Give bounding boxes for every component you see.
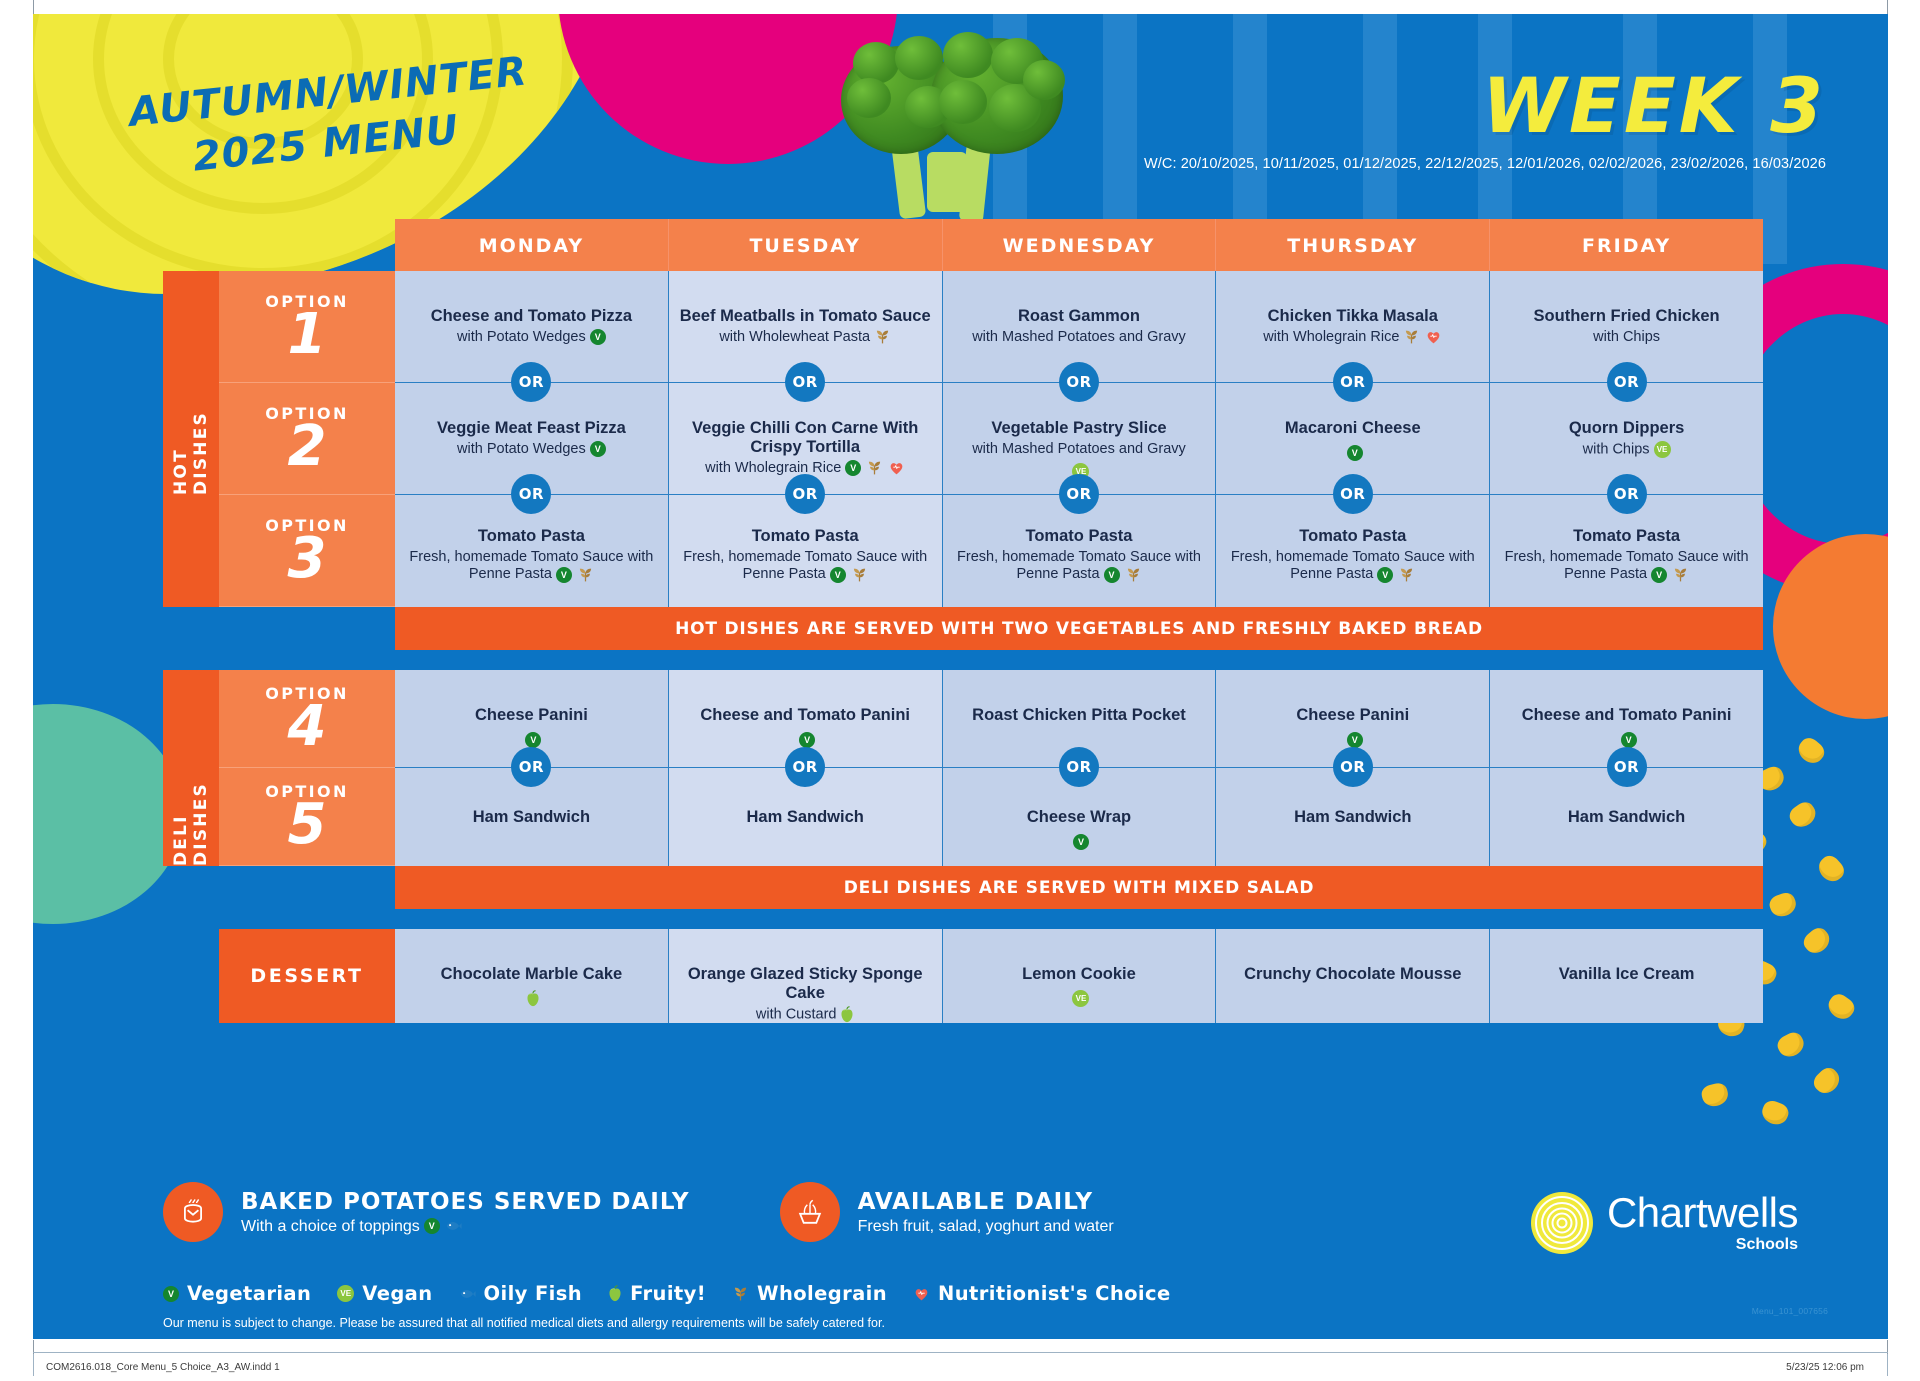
dish-description: with Wholegrain Rice (1263, 329, 1442, 346)
dessert-label: DESSERT (219, 929, 395, 1023)
or-badge: OR (785, 474, 825, 514)
dish-name: Ham Sandwich (473, 808, 590, 827)
day-header-monday: MONDAY (395, 219, 669, 271)
diet-icons: V (830, 567, 868, 583)
diet-icons: V (1347, 445, 1363, 461)
print-footer: COM2616.018_Core Menu_5 Choice_A3_AW.ind… (0, 1352, 1920, 1381)
menu-cell: Chicken Tikka Masalawith Wholegrain Rice… (1216, 271, 1490, 383)
broccoli-image (823, 32, 1093, 227)
dish-description-text: with Custard (756, 1006, 837, 1022)
option-number: 2 (288, 421, 327, 473)
vegan-icon: VE (1072, 990, 1089, 1007)
dish-name: Cheese and Tomato Panini (700, 706, 910, 725)
menu-cell-content: Beef Meatballs in Tomato Saucewith Whole… (680, 307, 931, 346)
info-title: AVAILABLE DAILY (858, 1189, 1114, 1215)
section-label-deli-dishes (163, 670, 219, 768)
menu-cell: Cheese and Tomato PaniniVOR (1490, 670, 1763, 768)
dish-description-text: with Chips (1583, 441, 1650, 457)
nutritionists-choice-icon (1425, 329, 1442, 345)
vegetarian-icon: V (1073, 834, 1089, 850)
dish-description-text: with Wholegrain Rice (705, 460, 841, 476)
dessert-label-text: DESSERT (250, 965, 363, 987)
footer-timestamp: 5/23/25 12:06 pm (1786, 1362, 1864, 1373)
dish-icons-row: VE (1022, 990, 1136, 1008)
wholegrain-icon (1672, 567, 1689, 583)
or-badge: OR (511, 474, 551, 514)
dish-description: with Mashed Potatoes and Gravy (972, 329, 1186, 346)
dish-name: Chocolate Marble Cake (441, 965, 623, 984)
diet-icons: V (1347, 732, 1363, 748)
baked-potato-icon (163, 1182, 223, 1242)
dish-name: Ham Sandwich (1568, 808, 1685, 827)
dish-description-text: Fresh, homemade Tomato Sauce with Penne … (957, 549, 1201, 582)
dish-description: Fresh, homemade Tomato Sauce with Penne … (1226, 549, 1479, 584)
dish-icons-row: V (1285, 444, 1421, 462)
menu-cell-content: Ham Sandwich (473, 808, 590, 827)
info-subtitle-text: Fresh fruit, salad, yoghurt and water (858, 1218, 1114, 1235)
or-badge: OR (1333, 474, 1373, 514)
diet-icons (874, 329, 891, 345)
dish-description: with Custard (679, 1006, 932, 1024)
menu-grid-body: OPTION1Cheese and Tomato Pizzawith Potat… (163, 271, 1763, 1023)
chartwells-name: Chartwells (1607, 1192, 1798, 1234)
info-item-available-daily: AVAILABLE DAILYFresh fruit, salad, yoghu… (780, 1182, 1114, 1242)
dish-name: Veggie Meat Feast Pizza (437, 419, 626, 438)
dish-name: Beef Meatballs in Tomato Sauce (680, 307, 931, 326)
dish-description: Fresh, homemade Tomato Sauce with Penne … (953, 549, 1206, 584)
menu-cell-content: Veggie Meat Feast Pizzawith Potato Wedge… (437, 419, 626, 458)
dish-icons-row (441, 990, 623, 1008)
nutritionists-choice-icon (888, 460, 905, 476)
menu-cell-content: Tomato PastaFresh, homemade Tomato Sauce… (1226, 527, 1479, 584)
menu-cell-content: Roast Chicken Pitta Pocket (972, 706, 1186, 725)
fruity-icon (608, 1285, 622, 1302)
menu-row-option-5: DELI DISHESOPTION5Ham SandwichHam Sandwi… (163, 768, 1763, 866)
footer-filename: COM2616.018_Core Menu_5 Choice_A3_AW.ind… (46, 1362, 280, 1373)
oily-fish-icon (459, 1287, 476, 1301)
deli-dishes-banner: DELI DISHES ARE SERVED WITH MIXED SALAD (395, 866, 1763, 909)
day-header-thursday: THURSDAY (1216, 219, 1490, 271)
menu-cell: Cheese and Tomato Pizzawith Potato Wedge… (395, 271, 669, 383)
menu-cell-content: Vegetable Pastry Slicewith Mashed Potato… (972, 419, 1186, 480)
vegetarian-icon: V (525, 732, 541, 748)
diet-icons: V (525, 732, 541, 748)
dish-name: Cheese Panini (475, 706, 588, 725)
chartwells-logo: Chartwells Schools (1531, 1192, 1798, 1254)
option-number: 3 (288, 533, 327, 585)
option-label-3: OPTION3 (219, 495, 395, 607)
diet-icons: V (556, 567, 594, 583)
dish-name: Ham Sandwich (1294, 808, 1411, 827)
option-label-2: OPTION2 (219, 383, 395, 495)
option-label-5: OPTION5 (219, 768, 395, 866)
footer-divider (33, 1352, 1888, 1353)
option-number: 5 (288, 799, 327, 851)
vegan-icon: VE (337, 1285, 354, 1302)
menu-cell-content: Ham Sandwich (1294, 808, 1411, 827)
info-text: BAKED POTATOES SERVED DAILYWith a choice… (241, 1189, 690, 1236)
menu-cell-content: Crunchy Chocolate Mousse (1244, 965, 1461, 984)
diet-icons (1403, 329, 1442, 345)
menu-cell-content: Cheese PaniniV (1296, 706, 1409, 749)
dish-description-text: with Chips (1593, 329, 1660, 345)
menu-code: Menu_101_007656 (1752, 1306, 1828, 1316)
info-subtitle: Fresh fruit, salad, yoghurt and water (858, 1218, 1114, 1236)
week-commencing-dates: W/C: 20/10/2025, 10/11/2025, 01/12/2025,… (1144, 156, 1826, 172)
dish-name: Quorn Dippers (1569, 419, 1685, 438)
wholegrain-icon (866, 460, 883, 476)
wholegrain-icon (577, 567, 594, 583)
dish-description: with Potato WedgesV (437, 441, 626, 458)
menu-cell-content: Cheese and Tomato PaniniV (1522, 706, 1732, 749)
menu-cell-content: Orange Glazed Sticky Sponge Cakewith Cus… (679, 965, 932, 1024)
legend-item-fruity: Fruity! (608, 1282, 706, 1305)
dish-name: Southern Fried Chicken (1534, 307, 1720, 326)
vegetarian-icon: V (556, 567, 572, 583)
menu-cell-content: Cheese WrapV (1027, 808, 1131, 851)
dish-name: Roast Chicken Pitta Pocket (972, 706, 1186, 725)
vegetarian-icon: V (830, 567, 846, 583)
option-number: 1 (288, 309, 327, 361)
menu-row-option-dessert: DESSERTChocolate Marble CakeOrange Glaze… (163, 929, 1763, 1023)
dish-name: Veggie Chilli Con Carne With Crispy Tort… (679, 419, 932, 457)
menu-cell-content: Roast Gammonwith Mashed Potatoes and Gra… (972, 307, 1186, 346)
menu-cell-content: Veggie Chilli Con Carne With Crispy Tort… (679, 419, 932, 477)
dish-description-text: with Mashed Potatoes and Gravy (972, 329, 1186, 345)
or-badge: OR (785, 747, 825, 787)
orange-circle-decoration (1773, 534, 1888, 719)
wholegrain-icon (1403, 329, 1420, 345)
info-subtitle: With a choice of toppingsV (241, 1218, 690, 1236)
diet-icons: V (1377, 567, 1415, 583)
menu-cell-content: Cheese and Tomato Pizzawith Potato Wedge… (431, 307, 632, 346)
day-header-tuesday: TUESDAY (669, 219, 943, 271)
menu-cell-content: Ham Sandwich (1568, 808, 1685, 827)
dish-name: Tomato Pasta (953, 527, 1206, 546)
dish-name: Ham Sandwich (747, 808, 864, 827)
or-badge: OR (1607, 474, 1647, 514)
dish-name: Tomato Pasta (679, 527, 932, 546)
menu-cell-content: Ham Sandwich (747, 808, 864, 827)
section-gap (163, 909, 1763, 929)
vegan-icon: VE (1654, 441, 1671, 458)
menu-cell-content: Vanilla Ice Cream (1559, 965, 1695, 984)
dish-description: with Wholewheat Pasta (680, 329, 931, 346)
menu-cell-content: Chicken Tikka Masalawith Wholegrain Rice (1263, 307, 1442, 346)
vegetarian-icon: V (1621, 732, 1637, 748)
day-header-wednesday: WEDNESDAY (943, 219, 1217, 271)
diet-icons: V (799, 732, 815, 748)
vegetarian-icon: V (590, 329, 606, 345)
vegetarian-icon: V (1347, 445, 1363, 461)
option-number: 4 (288, 701, 327, 753)
menu-cell: Lemon CookieVE (943, 929, 1217, 1023)
fruity-icon (526, 990, 540, 1007)
wholegrain-icon (732, 1286, 749, 1302)
chartwells-sub: Schools (1607, 1236, 1798, 1254)
menu-cell-content: Macaroni CheeseV (1285, 419, 1421, 462)
section-label-text: HOT DISHES (171, 383, 211, 495)
legend-label: Wholegrain (757, 1282, 887, 1305)
menu-row-option-3: OPTION3Tomato PastaFresh, homemade Tomat… (163, 495, 1763, 607)
diet-icons (526, 990, 540, 1007)
footer-tick (1887, 1354, 1888, 1376)
menu-cell: Beef Meatballs in Tomato Saucewith Whole… (669, 271, 943, 383)
diet-icons: VE (1072, 990, 1089, 1007)
menu-row-cells: Cheese and Tomato Pizzawith Potato Wedge… (395, 271, 1763, 383)
diet-icons: V (424, 1218, 462, 1234)
dish-name: Chicken Tikka Masala (1263, 307, 1442, 326)
menu-cell-content: Tomato PastaFresh, homemade Tomato Sauce… (679, 527, 932, 584)
dish-description-text: with Wholegrain Rice (1263, 329, 1399, 345)
wholegrain-icon (851, 567, 868, 583)
dish-name: Cheese and Tomato Pizza (431, 307, 632, 326)
legend-item-wholegrain: Wholegrain (732, 1282, 887, 1305)
diet-icons: VE (1654, 441, 1671, 458)
dish-name: Crunchy Chocolate Mousse (1244, 965, 1461, 984)
disclaimer-text: Our menu is subject to change. Please be… (163, 1316, 885, 1330)
diet-icons: V (590, 329, 606, 345)
oily-fish-icon (445, 1219, 462, 1233)
menu-cell: Southern Fried Chickenwith ChipsOR (1490, 271, 1763, 383)
menu-cell: Cheese PaniniVOR (395, 670, 669, 768)
vegetarian-icon: V (1104, 567, 1120, 583)
diet-icons: V (845, 460, 905, 476)
or-badge: OR (1333, 362, 1373, 402)
dish-description: with Potato WedgesV (431, 329, 632, 346)
dish-name: Vegetable Pastry Slice (972, 419, 1186, 438)
menu-cell-content: Cheese and Tomato PaniniV (700, 706, 910, 749)
info-text: AVAILABLE DAILYFresh fruit, salad, yoghu… (858, 1189, 1114, 1236)
hot-dishes-banner: HOT DISHES ARE SERVED WITH TWO VEGETABLE… (395, 607, 1763, 650)
section-label-hot-dishes: HOT DISHES (163, 383, 219, 495)
diet-icons: V (1621, 732, 1637, 748)
menu-row-cells: Chocolate Marble CakeOrange Glazed Stick… (395, 929, 1763, 1023)
dish-description: Fresh, homemade Tomato Sauce with Penne … (679, 549, 932, 584)
salad-bowl-icon (780, 1182, 840, 1242)
option-label-4: OPTION4 (219, 670, 395, 768)
menu-cell-content: Lemon CookieVE (1022, 965, 1136, 1008)
menu-cell-content: Tomato PastaFresh, homemade Tomato Sauce… (1500, 527, 1753, 584)
vegetarian-icon: V (1651, 567, 1667, 583)
dish-description-text: with Potato Wedges (457, 441, 586, 457)
or-badge: OR (1607, 747, 1647, 787)
chartwells-logo-text: Chartwells Schools (1607, 1192, 1798, 1254)
legend-item-nutritionist-s-choice: Nutritionist's Choice (913, 1282, 1171, 1305)
menu-cell: Roast Gammonwith Mashed Potatoes and Gra… (943, 271, 1217, 383)
wholegrain-icon (1398, 567, 1415, 583)
menu-row-cells: Cheese PaniniVORCheese and Tomato Panini… (395, 670, 1763, 768)
or-badge: OR (511, 747, 551, 787)
nutritionists-choice-icon (913, 1286, 930, 1302)
green-circle-decoration (33, 704, 183, 924)
fruity-icon (840, 1006, 854, 1023)
day-header-friday: FRIDAY (1490, 219, 1763, 271)
legend-label: Vegetarian (187, 1282, 311, 1305)
vegetarian-icon: V (845, 460, 861, 476)
menu-cell-content: Cheese PaniniV (475, 706, 588, 749)
dish-description: with Mashed Potatoes and Gravy (972, 441, 1186, 458)
diet-icons: V (1104, 567, 1142, 583)
info-title: BAKED POTATOES SERVED DAILY (241, 1189, 690, 1215)
dish-name: Cheese Panini (1296, 706, 1409, 725)
days-header-row: MONDAYTUESDAYWEDNESDAYTHURSDAYFRIDAY (395, 219, 1763, 271)
menu-cell-content: Tomato PastaFresh, homemade Tomato Sauce… (405, 527, 658, 584)
vegetarian-icon: V (590, 441, 606, 457)
dish-name: Macaroni Cheese (1285, 419, 1421, 438)
legend-item-vegetarian: VVegetarian (163, 1282, 311, 1305)
diet-icons (840, 1006, 854, 1023)
dish-name: Cheese and Tomato Panini (1522, 706, 1732, 725)
chartwells-logo-mark (1531, 1192, 1593, 1254)
dish-name: Orange Glazed Sticky Sponge Cake (679, 965, 932, 1003)
wholegrain-icon (874, 329, 891, 345)
menu-cell-content: Quorn Dipperswith ChipsVE (1569, 419, 1685, 459)
menu-cell-content: Tomato PastaFresh, homemade Tomato Sauce… (953, 527, 1206, 584)
legend: VVegetarianVEVeganOily FishFruity!Wholeg… (163, 1282, 1171, 1305)
dish-description-text: with Wholewheat Pasta (719, 329, 870, 345)
section-label-text: DELI DISHES (171, 768, 211, 866)
legend-item-vegan: VEVegan (337, 1282, 432, 1305)
menu-cell: Cheese PaniniVOR (1216, 670, 1490, 768)
wholegrain-icon (1125, 567, 1142, 583)
section-label-hot-dishes (163, 271, 219, 383)
dish-description: with ChipsVE (1569, 441, 1685, 459)
dish-name: Lemon Cookie (1022, 965, 1136, 984)
menu-cell: Roast Chicken Pitta PocketOR (943, 670, 1217, 768)
dish-name: Cheese Wrap (1027, 808, 1131, 827)
vegetarian-icon: V (424, 1218, 440, 1234)
menu-row-option-2: HOT DISHESOPTION2Veggie Meat Feast Pizza… (163, 383, 1763, 495)
dish-description-text: with Potato Wedges (457, 329, 586, 345)
dish-description-text: Fresh, homemade Tomato Sauce with Penne … (409, 549, 653, 582)
dish-name: Tomato Pasta (1226, 527, 1479, 546)
dish-description-text: Fresh, homemade Tomato Sauce with Penne … (1505, 549, 1749, 582)
menu-cell-content: Chocolate Marble Cake (441, 965, 623, 1008)
dish-name: Tomato Pasta (405, 527, 658, 546)
dish-name: Roast Gammon (972, 307, 1186, 326)
menu-row-option-4: OPTION4Cheese PaniniVORCheese and Tomato… (163, 670, 1763, 768)
menu-cell: Chocolate Marble Cake (395, 929, 669, 1023)
menu-title: AUTUMN/WINTER 2025 MENU (128, 69, 588, 157)
info-item-baked-potatoes: BAKED POTATOES SERVED DAILYWith a choice… (163, 1182, 690, 1242)
or-badge: OR (1059, 362, 1099, 402)
legend-label: Oily Fish (484, 1282, 583, 1305)
vegetarian-icon: V (163, 1286, 179, 1302)
menu-row-option-1: OPTION1Cheese and Tomato Pizzawith Potat… (163, 271, 1763, 383)
or-badge: OR (785, 362, 825, 402)
dish-name: Tomato Pasta (1500, 527, 1753, 546)
diet-icons: V (590, 441, 606, 457)
info-subtitle-text: With a choice of toppings (241, 1218, 420, 1235)
footer-tick (33, 1354, 34, 1376)
or-badge: OR (1607, 362, 1647, 402)
menu-cell: Orange Glazed Sticky Sponge Cakewith Cus… (669, 929, 943, 1023)
dish-icons-row: V (1027, 833, 1131, 851)
section-gap (163, 650, 1763, 670)
or-badge: OR (1059, 747, 1099, 787)
dish-description-text: Fresh, homemade Tomato Sauce with Penne … (1231, 549, 1475, 582)
week-title: WEEK 3 (1144, 70, 1826, 142)
dish-description: Fresh, homemade Tomato Sauce with Penne … (405, 549, 658, 584)
diet-icons: V (1651, 567, 1689, 583)
menu-cell: Vanilla Ice Cream (1490, 929, 1763, 1023)
legend-label: Fruity! (630, 1282, 706, 1305)
poster-artboard: AUTUMN/WINTER 2025 MENU WEEK 3 W/C: 20/1… (33, 14, 1888, 1339)
menu-poster-page: AUTUMN/WINTER 2025 MENU WEEK 3 W/C: 20/1… (0, 0, 1920, 1381)
section-label-deli-dishes: DELI DISHES (163, 768, 219, 866)
section-label-spacer (163, 929, 219, 1023)
dish-description: Fresh, homemade Tomato Sauce with Penne … (1500, 549, 1753, 584)
diet-icons: V (1073, 834, 1089, 850)
or-badge: OR (1059, 474, 1099, 514)
vegetarian-icon: V (799, 732, 815, 748)
dish-description-text: with Mashed Potatoes and Gravy (972, 441, 1186, 457)
dish-description-text: Fresh, homemade Tomato Sauce with Penne … (683, 549, 927, 582)
menu-grid: MONDAYTUESDAYWEDNESDAYTHURSDAYFRIDAY OPT… (163, 219, 1763, 1023)
menu-cell: Cheese and Tomato PaniniVOR (669, 670, 943, 768)
vegetarian-icon: V (1347, 732, 1363, 748)
vegetarian-icon: V (1377, 567, 1393, 583)
menu-cell: Crunchy Chocolate Mousse (1216, 929, 1490, 1023)
section-label-hot-dishes (163, 495, 219, 607)
option-label-1: OPTION1 (219, 271, 395, 383)
or-badge: OR (1333, 747, 1373, 787)
dish-description: with Chips (1534, 329, 1720, 346)
or-badge: OR (511, 362, 551, 402)
legend-item-oily-fish: Oily Fish (459, 1282, 583, 1305)
week-block: WEEK 3 W/C: 20/10/2025, 10/11/2025, 01/1… (1144, 70, 1826, 172)
legend-label: Vegan (362, 1282, 432, 1305)
dish-name: Vanilla Ice Cream (1559, 965, 1695, 984)
legend-label: Nutritionist's Choice (938, 1282, 1171, 1305)
menu-cell-content: Southern Fried Chickenwith Chips (1534, 307, 1720, 346)
